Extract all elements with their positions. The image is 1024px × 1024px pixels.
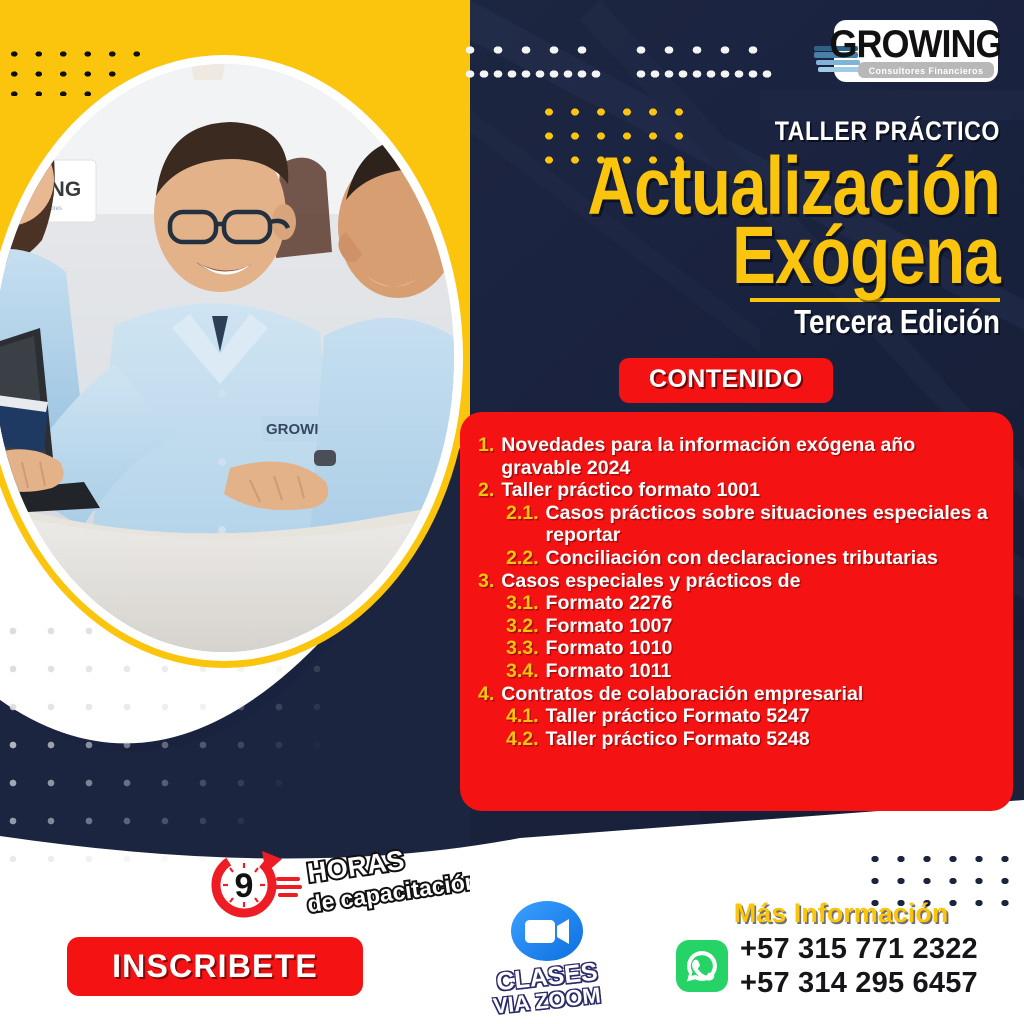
event-header: TALLER PRÁCTICO Actualización Exógena Te…	[440, 118, 1000, 338]
photo-image: WING Consultores WING	[0, 64, 454, 652]
content-item: 3.3.Formato 1010	[470, 637, 997, 660]
content-item-text: Taller práctico Formato 5248	[546, 728, 810, 751]
content-item-number: 3.2.	[506, 615, 539, 638]
content-item-number: 4.1.	[506, 705, 539, 728]
contact-block: Más Información +57 315 771 2322 +57 314…	[676, 900, 1006, 1000]
content-item: 4.Contratos de colaboración empresarial	[470, 683, 997, 706]
content-item-text: Taller práctico formato 1001	[501, 479, 760, 502]
video-camera-icon	[509, 900, 585, 962]
content-item-number: 1.	[478, 434, 494, 457]
phone-list: +57 315 771 2322 +57 314 295 6457	[740, 933, 978, 1000]
content-list: 1.Novedades para la información exógena …	[470, 434, 997, 751]
content-item: 1.Novedades para la información exógena …	[470, 434, 997, 479]
content-item-text: Taller práctico Formato 5247	[546, 705, 810, 728]
event-subtitle: Tercera Edición	[530, 305, 1000, 338]
content-item: 4.1.Taller práctico Formato 5247	[470, 705, 997, 728]
content-item-number: 3.3.	[506, 637, 539, 660]
flyer-canvas: WING Consultores WING	[0, 0, 1024, 1024]
content-item: 2.Taller práctico formato 1001	[470, 479, 997, 502]
content-item: 3.4.Formato 1011	[470, 660, 997, 683]
phone-number-1[interactable]: +57 315 771 2322	[740, 933, 978, 965]
content-item: 3.Casos especiales y prácticos de	[470, 570, 997, 593]
content-item-number: 2.2.	[506, 547, 539, 570]
dot-pattern-white-right	[627, 38, 769, 86]
content-item: 2.1.Casos prácticos sobre situaciones es…	[470, 502, 997, 547]
content-item-number: 2.	[478, 479, 494, 502]
content-item-text: Casos especiales y prácticos de	[501, 570, 800, 593]
content-item: 4.2.Taller práctico Formato 5248	[470, 728, 997, 751]
stopwatch-icon: 9	[205, 846, 300, 925]
content-item-number: 4.	[478, 683, 494, 706]
team-photo-circle: WING Consultores WING	[0, 48, 470, 668]
zoom-classes-badge: CLASES VIA ZOOM	[472, 900, 622, 1012]
inscribete-button[interactable]: INSCRIBETE	[67, 937, 363, 996]
content-item-text: Conciliación con declaraciones tributari…	[546, 547, 938, 570]
content-item-number: 2.1.	[506, 502, 539, 525]
content-item-text: Contratos de colaboración empresarial	[501, 683, 863, 706]
svg-text:GROWING: GROWING	[830, 22, 1000, 66]
content-item-text: Formato 1011	[546, 660, 672, 683]
contact-row: +57 315 771 2322 +57 314 295 6457	[676, 933, 1006, 1000]
contenido-badge: CONTENIDO	[619, 358, 833, 403]
phone-number-2[interactable]: +57 314 295 6457	[740, 967, 978, 999]
content-item-number: 3.1.	[506, 592, 539, 615]
content-item-number: 3.	[478, 570, 494, 593]
content-item: 3.1.Formato 2276	[470, 592, 997, 615]
content-item: 3.2.Formato 1007	[470, 615, 997, 638]
content-item: 2.2.Conciliación con declaraciones tribu…	[470, 547, 997, 570]
content-item-text: Formato 1010	[546, 637, 673, 660]
event-title-line2: Exógena	[552, 218, 1000, 293]
hours-badge: 9 HORAS de capacitación	[200, 845, 470, 925]
dot-pattern-white-left	[456, 38, 598, 86]
growing-logo[interactable]: GROWING Consultores Financieros	[812, 18, 1000, 90]
content-item-number: 4.2.	[506, 728, 539, 751]
content-item-text: Formato 2276	[546, 592, 673, 615]
contact-title: Más Información	[676, 900, 1006, 927]
svg-text:9: 9	[235, 867, 254, 905]
content-item-text: Formato 1007	[546, 615, 673, 638]
content-item-text: Novedades para la información exógena añ…	[501, 434, 997, 479]
whatsapp-icon[interactable]	[676, 940, 728, 992]
content-item-number: 3.4.	[506, 660, 539, 683]
content-item-text: Casos prácticos sobre situaciones especi…	[546, 502, 997, 547]
svg-text:Consultores Financieros: Consultores Financieros	[869, 66, 984, 76]
content-panel: 1.Novedades para la información exógena …	[460, 412, 1013, 811]
